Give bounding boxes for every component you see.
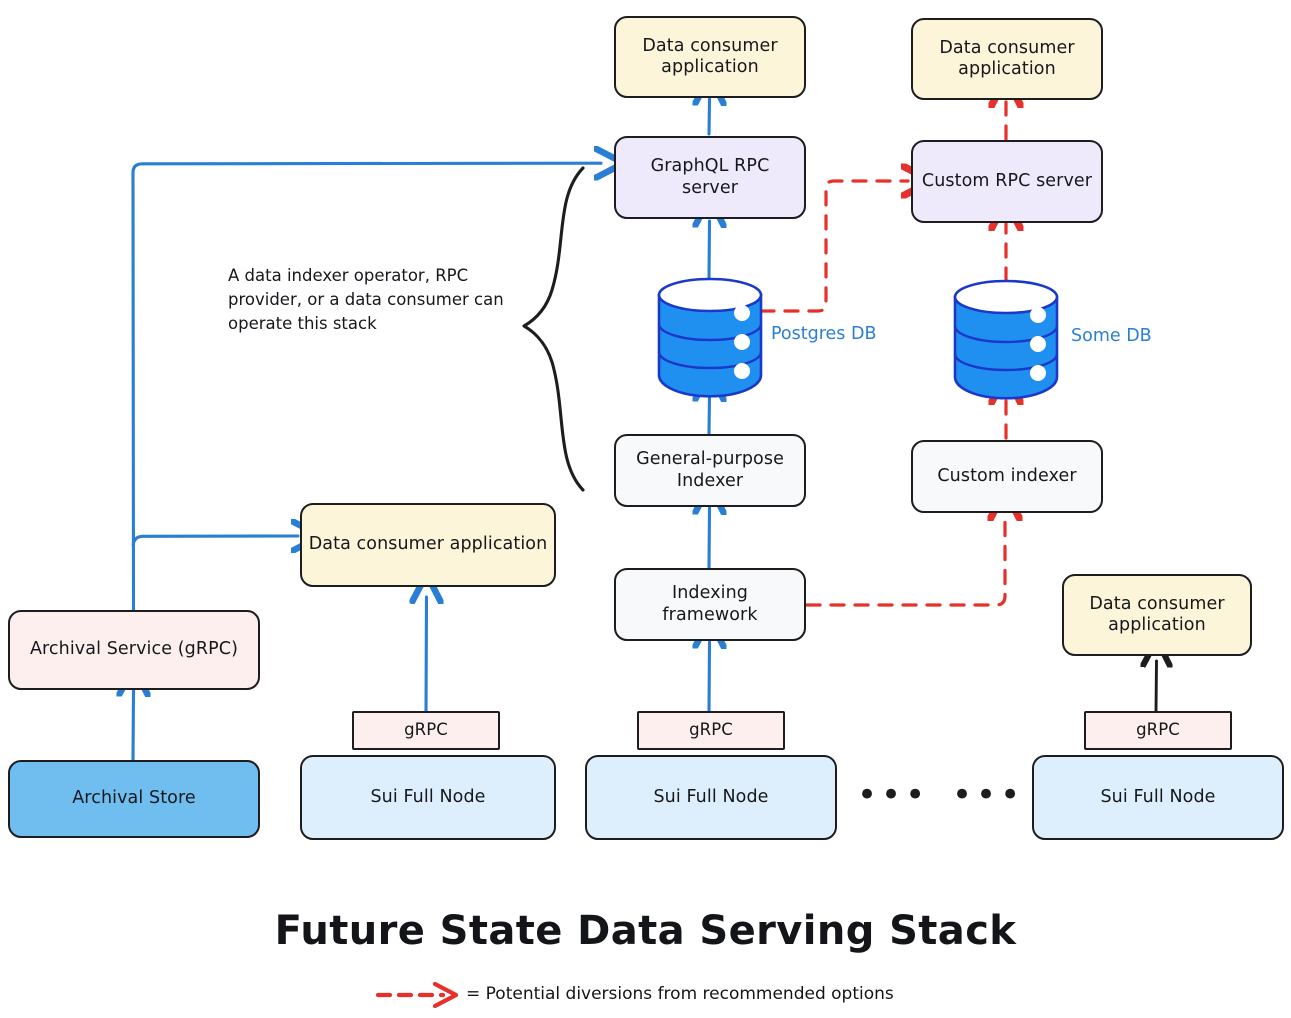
legend-arrow-icon [378, 984, 456, 1006]
node-data-consumer-application-fullnode[interactable]: Data consumer application [1062, 574, 1252, 656]
edge-archival-service-to-consumer [133, 536, 298, 545]
node-grpc-left[interactable]: gRPC [352, 711, 500, 750]
edge-postgres-to-graphql [709, 221, 710, 279]
node-graphql-rpc-server[interactable]: GraphQL RPC server [614, 136, 806, 219]
node-general-purpose-indexer[interactable]: General-purpose Indexer [614, 434, 806, 507]
diagram-canvas: Data consumer application Data consumer … [0, 0, 1291, 1018]
edge-grpc1-to-consumer [426, 597, 427, 712]
legend-label: = Potential diversions from recommended … [466, 984, 894, 1004]
edge-grpc2-to-framework [709, 642, 710, 712]
node-data-consumer-application-graphql[interactable]: Data consumer application [614, 16, 806, 98]
node-sui-full-node-middle[interactable]: Sui Full Node [585, 755, 837, 840]
node-archival-service[interactable]: Archival Service (gRPC) [8, 610, 260, 690]
node-grpc-right[interactable]: gRPC [1084, 711, 1232, 750]
ellipsis-left: ••• [857, 778, 929, 812]
annotation-text: A data indexer operator, RPC provider, o… [228, 264, 508, 336]
node-indexing-framework[interactable]: Indexing framework [614, 568, 806, 641]
diagram-title: Future State Data Serving Stack [0, 908, 1291, 954]
postgres-db-label: Postgres DB [771, 324, 876, 344]
postgres-db-icon [659, 279, 761, 396]
edge-gpindexer-to-postgres [709, 395, 710, 434]
node-grpc-middle[interactable]: gRPC [637, 711, 785, 750]
some-db-label: Some DB [1071, 326, 1152, 346]
node-archival-store[interactable]: Archival Store [8, 760, 260, 838]
node-sui-full-node-right[interactable]: Sui Full Node [1032, 755, 1284, 840]
edge-graphql-to-consumer [709, 99, 710, 134]
ellipsis-right: ••• [952, 778, 1024, 812]
curly-brace-icon [524, 168, 583, 490]
node-sui-full-node-left[interactable]: Sui Full Node [300, 755, 556, 840]
some-db-icon [955, 281, 1057, 398]
node-data-consumer-application-archival[interactable]: Data consumer application [300, 503, 556, 587]
edge-framework-to-gpindexer [709, 508, 710, 568]
node-custom-rpc-server[interactable]: Custom RPC server [911, 140, 1103, 223]
edge-grpc3-to-consumer [1156, 661, 1157, 712]
node-custom-indexer[interactable]: Custom indexer [911, 440, 1103, 513]
edge-framework-to-custom-indexer [807, 514, 1005, 605]
edge-archival-store-to-service [133, 690, 134, 760]
node-data-consumer-application-custom[interactable]: Data consumer application [911, 18, 1103, 100]
